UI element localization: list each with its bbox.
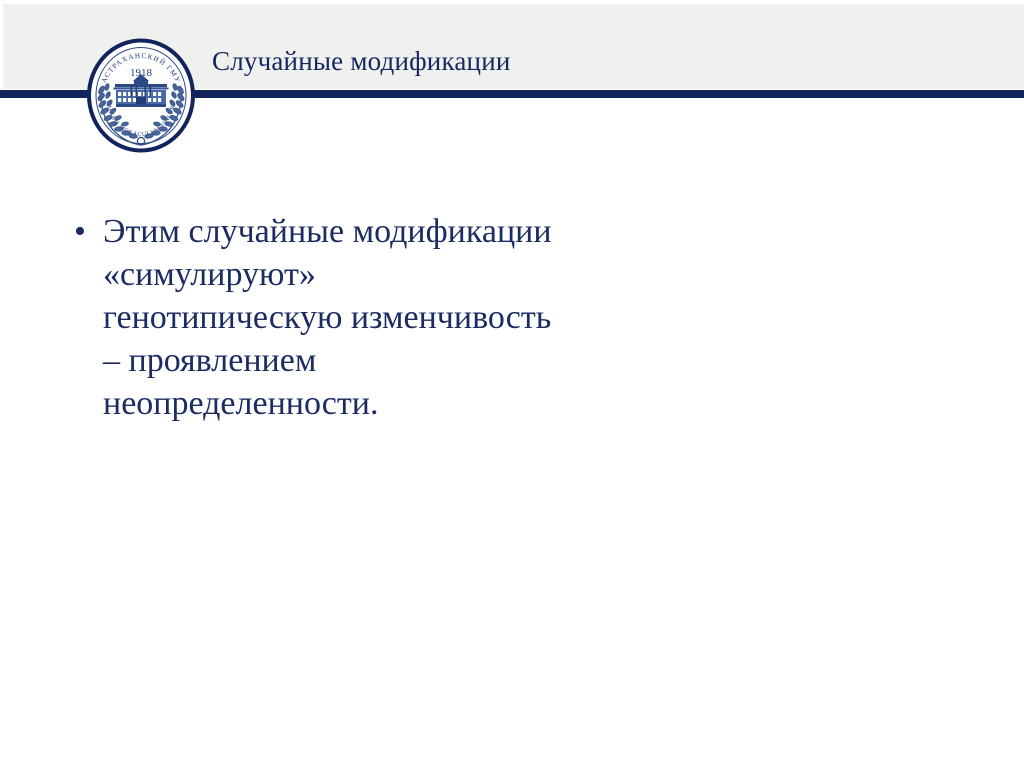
bullet-text: Этим случайные модификации «симулируют» … — [103, 210, 558, 425]
page-title: Случайные модификации — [212, 44, 972, 78]
slide-body: • Этим случайные модификации «симулируют… — [68, 210, 768, 425]
presentation-slide: Случайные модификации АСТРАХАНСКИЙ ГМУ 1… — [0, 0, 1024, 767]
university-emblem-logo: АСТРАХАНСКИЙ ГМУ 1918 — [86, 38, 196, 153]
list-item: • Этим случайные модификации «симулируют… — [68, 210, 768, 425]
bullet-marker-icon: • — [74, 210, 86, 253]
